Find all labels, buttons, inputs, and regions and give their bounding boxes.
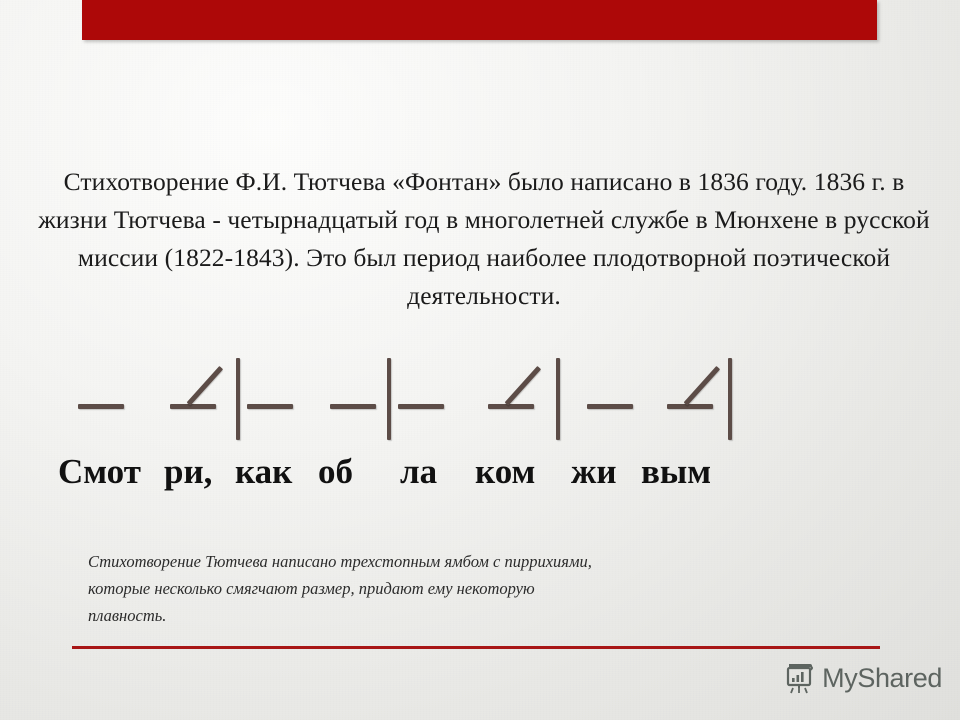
stress-accent-mark	[684, 366, 721, 406]
unstressed-syllable-mark	[78, 404, 124, 409]
brand-watermark: MyShared	[785, 662, 942, 694]
syllable-token: как	[235, 450, 292, 494]
top-red-banner	[82, 0, 877, 40]
syllable-line: Смотри,какоблакомживым	[0, 450, 960, 498]
unstressed-syllable-mark	[587, 404, 633, 409]
brand-label: MyShared	[822, 663, 942, 693]
slide-canvas: Стихотворение Ф.И. Тютчева «Фонтан» было…	[0, 0, 960, 720]
body-paragraph: Стихотворение Ф.И. Тютчева «Фонтан» было…	[26, 163, 942, 315]
syllable-token: Смот	[58, 450, 141, 494]
syllable-token: ри,	[164, 450, 212, 494]
unstressed-syllable-mark	[247, 404, 293, 409]
presentation-board-icon	[785, 662, 815, 694]
unstressed-syllable-mark	[398, 404, 444, 409]
stress-accent-mark	[187, 366, 224, 406]
footer-rule	[72, 646, 880, 649]
foot-divider	[387, 358, 391, 440]
syllable-token: ла	[400, 450, 437, 494]
unstressed-syllable-mark	[488, 404, 534, 409]
unstressed-syllable-mark	[170, 404, 216, 409]
stress-accent-mark	[505, 366, 542, 406]
scansion-diagram	[0, 352, 960, 450]
syllable-token: ком	[475, 450, 535, 494]
foot-divider	[556, 358, 560, 440]
syllable-token: вым	[641, 450, 711, 494]
caption-note: Стихотворение Тютчева написано трехстопн…	[88, 548, 608, 629]
foot-divider	[728, 358, 732, 440]
syllable-token: об	[318, 450, 353, 494]
syllable-token: жи	[571, 450, 617, 494]
unstressed-syllable-mark	[667, 404, 713, 409]
unstressed-syllable-mark	[330, 404, 376, 409]
foot-divider	[236, 358, 240, 440]
